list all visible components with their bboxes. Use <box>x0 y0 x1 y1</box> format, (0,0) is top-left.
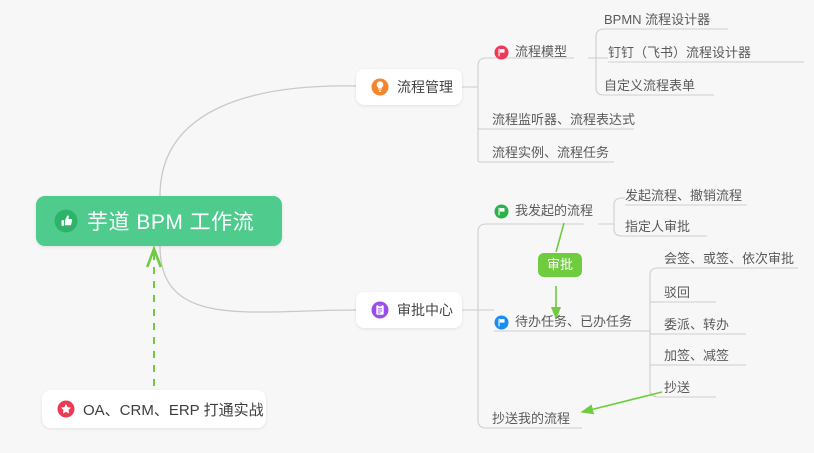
branch-node-approval-center[interactable]: 审批中心 <box>356 292 462 328</box>
node-label: 驳回 <box>664 285 690 301</box>
node-process-listener[interactable]: 流程监听器、流程表达式 <box>492 112 635 131</box>
node-my-initiated-processes[interactable]: 我发起的流程 <box>494 203 593 222</box>
node-label: 抄送 <box>664 380 690 396</box>
lightbulb-icon <box>371 78 389 96</box>
node-bpmn-designer[interactable]: BPMN 流程设计器 <box>604 12 710 31</box>
node-delegate-transfer[interactable]: 委派、转办 <box>664 317 729 336</box>
root-label: 芋道 BPM 工作流 <box>87 206 254 236</box>
node-custom-process-form[interactable]: 自定义流程表单 <box>604 78 695 97</box>
flag-icon <box>494 204 509 219</box>
star-icon <box>57 400 75 418</box>
branch-node-process-management[interactable]: 流程管理 <box>356 69 462 105</box>
node-todo-done-tasks[interactable]: 待办任务、已办任务 <box>494 314 632 333</box>
node-carbon-copy[interactable]: 抄送 <box>664 380 690 399</box>
node-label: 指定人审批 <box>625 219 690 235</box>
node-reject[interactable]: 驳回 <box>664 285 690 304</box>
node-label: 流程实例、流程任务 <box>492 145 609 161</box>
node-label: BPMN 流程设计器 <box>604 12 710 28</box>
node-label: 委派、转办 <box>664 317 729 333</box>
branch-label: 流程管理 <box>397 77 453 97</box>
node-add-remove-sign[interactable]: 加签、减签 <box>664 348 729 367</box>
node-label: 流程监听器、流程表达式 <box>492 112 635 128</box>
node-label: 自定义流程表单 <box>604 78 695 94</box>
node-dingtalk-feishu-designer[interactable]: 钉钉（飞书）流程设计器 <box>608 45 751 64</box>
node-label: 我发起的流程 <box>515 203 593 219</box>
node-process-instance[interactable]: 流程实例、流程任务 <box>492 145 609 164</box>
thumbs-up-icon <box>54 209 78 233</box>
node-process-model[interactable]: 流程模型 <box>494 44 567 63</box>
flag-icon <box>494 315 509 330</box>
root-node[interactable]: 芋道 BPM 工作流 <box>36 196 282 246</box>
node-assignee-approval[interactable]: 指定人审批 <box>625 219 690 238</box>
flag-icon <box>494 45 509 60</box>
mindmap-canvas: 芋道 BPM 工作流 流程管理 审批中心 <box>0 0 814 453</box>
node-label: 流程模型 <box>515 44 567 60</box>
annotation-chip-approval: 审批 <box>538 253 582 277</box>
node-label: 抄送我的流程 <box>492 411 570 427</box>
node-label: 发起流程、撤销流程 <box>625 188 742 204</box>
node-label: 待办任务、已办任务 <box>515 314 632 330</box>
node-label: 钉钉（飞书）流程设计器 <box>608 45 751 61</box>
branch-label: 审批中心 <box>397 300 453 320</box>
clipboard-icon <box>371 301 389 319</box>
node-label: 会签、或签、依次审批 <box>664 251 794 267</box>
node-multi-sign[interactable]: 会签、或签、依次审批 <box>664 251 794 270</box>
node-label: OA、CRM、ERP 打通实战 <box>83 399 264 420</box>
node-label: 加签、减签 <box>664 348 729 364</box>
node-integration-practice[interactable]: OA、CRM、ERP 打通实战 <box>42 390 266 428</box>
node-cc-my-processes[interactable]: 抄送我的流程 <box>492 411 570 430</box>
node-start-cancel-process[interactable]: 发起流程、撤销流程 <box>625 188 742 207</box>
